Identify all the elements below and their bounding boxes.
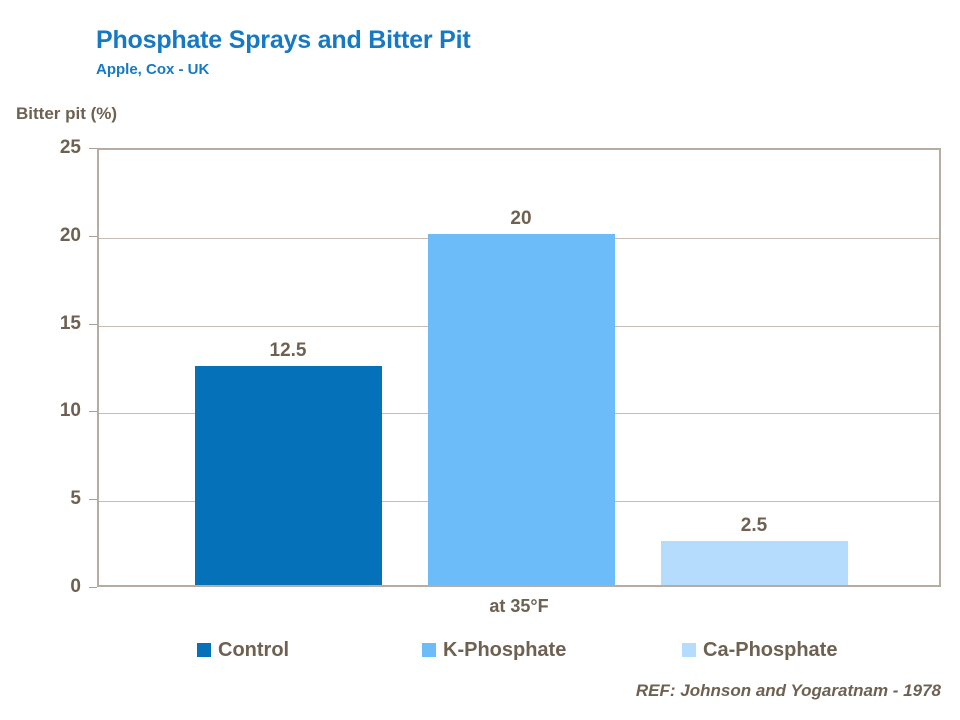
plot-area: 12.5202.5 [97, 148, 941, 587]
y-axis-tick-label: 5 [3, 488, 81, 510]
legend-item[interactable]: K-Phosphate [422, 640, 566, 660]
bar[interactable] [428, 234, 615, 585]
legend-label: Control [218, 640, 289, 660]
bar[interactable] [661, 541, 848, 585]
y-axis-tick-mark [89, 324, 97, 325]
legend-label: Ca-Phosphate [703, 640, 837, 660]
bar-value-label: 2.5 [661, 515, 848, 537]
bar[interactable] [195, 366, 382, 586]
bar-value-label: 20 [428, 208, 615, 230]
page-title: Phosphate Sprays and Bitter Pit [96, 26, 470, 55]
legend-item[interactable]: Ca-Phosphate [682, 640, 837, 660]
x-axis-category-label: at 35°F [97, 596, 941, 617]
bar-value-label: 12.5 [195, 340, 382, 362]
y-axis-tick-mark [89, 236, 97, 237]
legend: ControlK-PhosphateCa-Phosphate [97, 640, 941, 670]
chart-subtitle: Apple, Cox - UK [96, 61, 209, 78]
legend-item[interactable]: Control [197, 640, 289, 660]
y-axis-tick-label: 15 [3, 313, 81, 335]
y-axis-title: Bitter pit (%) [16, 104, 117, 124]
legend-swatch-icon [422, 643, 436, 657]
y-axis-tick-label: 20 [3, 225, 81, 247]
reference-annotation: REF: Johnson and Yogaratnam - 1978 [636, 681, 941, 701]
legend-swatch-icon [682, 643, 696, 657]
y-axis-tick-label: 10 [3, 400, 81, 422]
y-axis-tick-mark [89, 587, 97, 588]
legend-swatch-icon [197, 643, 211, 657]
legend-label: K-Phosphate [443, 640, 566, 660]
chart-screenshot: Phosphate Sprays and Bitter Pit Apple, C… [0, 0, 960, 720]
y-axis-tick-mark [89, 411, 97, 412]
y-axis-tick-mark [89, 499, 97, 500]
y-axis-tick-label: 0 [3, 576, 81, 598]
y-axis-tick-label: 25 [3, 137, 81, 159]
y-axis-tick-mark [89, 148, 97, 149]
